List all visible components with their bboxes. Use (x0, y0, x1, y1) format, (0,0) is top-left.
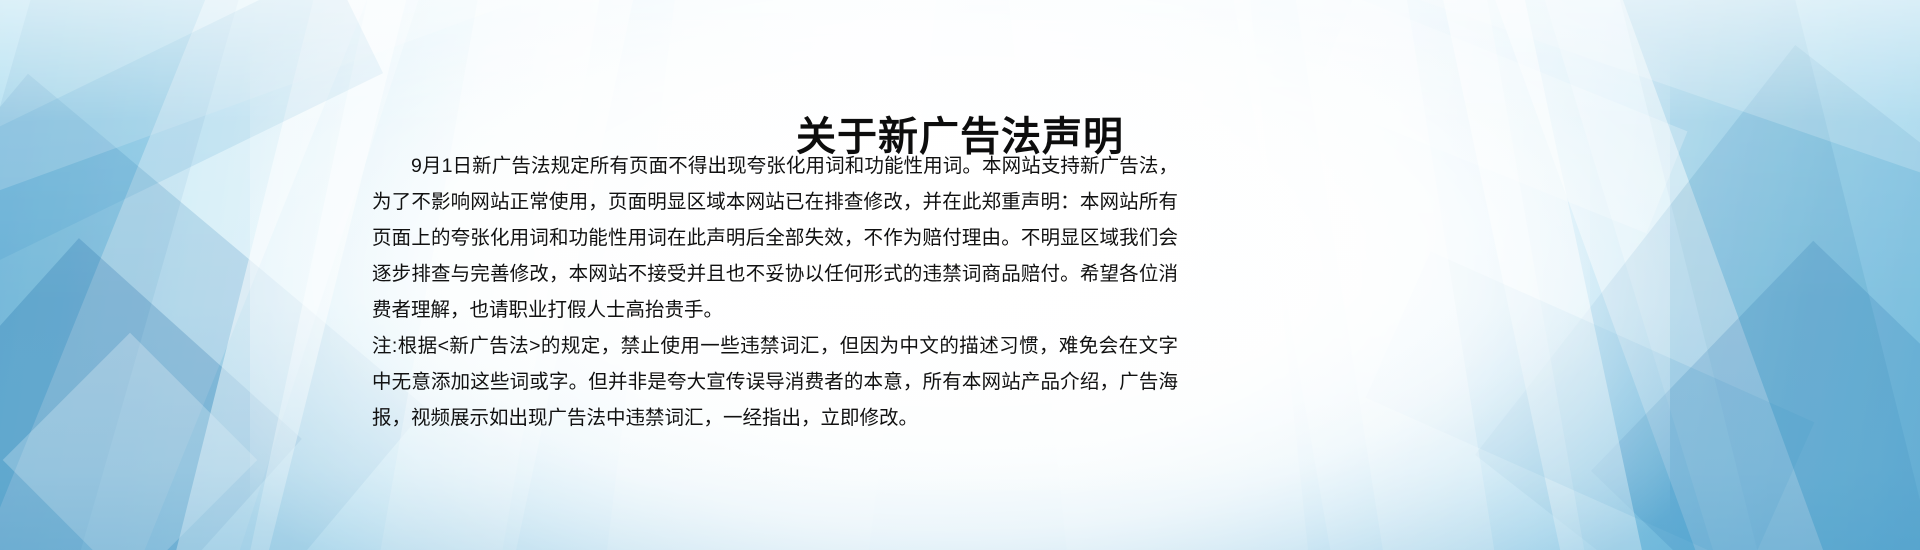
statement-body: 9月1日新广告法规定所有页面不得出现夸张化用词和功能性用词。本网站支持新广告法，… (372, 148, 1178, 436)
statement-content: 关于新广告法声明 9月1日新广告法规定所有页面不得出现夸张化用词和功能性用词。本… (0, 0, 1920, 550)
statement-note-paragraph: 注:根据<新广告法>的规定，禁止使用一些违禁词汇，但因为中文的描述习惯，难免会在… (372, 328, 1178, 436)
advertising-law-statement-banner: 关于新广告法声明 9月1日新广告法规定所有页面不得出现夸张化用词和功能性用词。本… (0, 0, 1920, 550)
statement-paragraph: 9月1日新广告法规定所有页面不得出现夸张化用词和功能性用词。本网站支持新广告法，… (372, 148, 1178, 328)
